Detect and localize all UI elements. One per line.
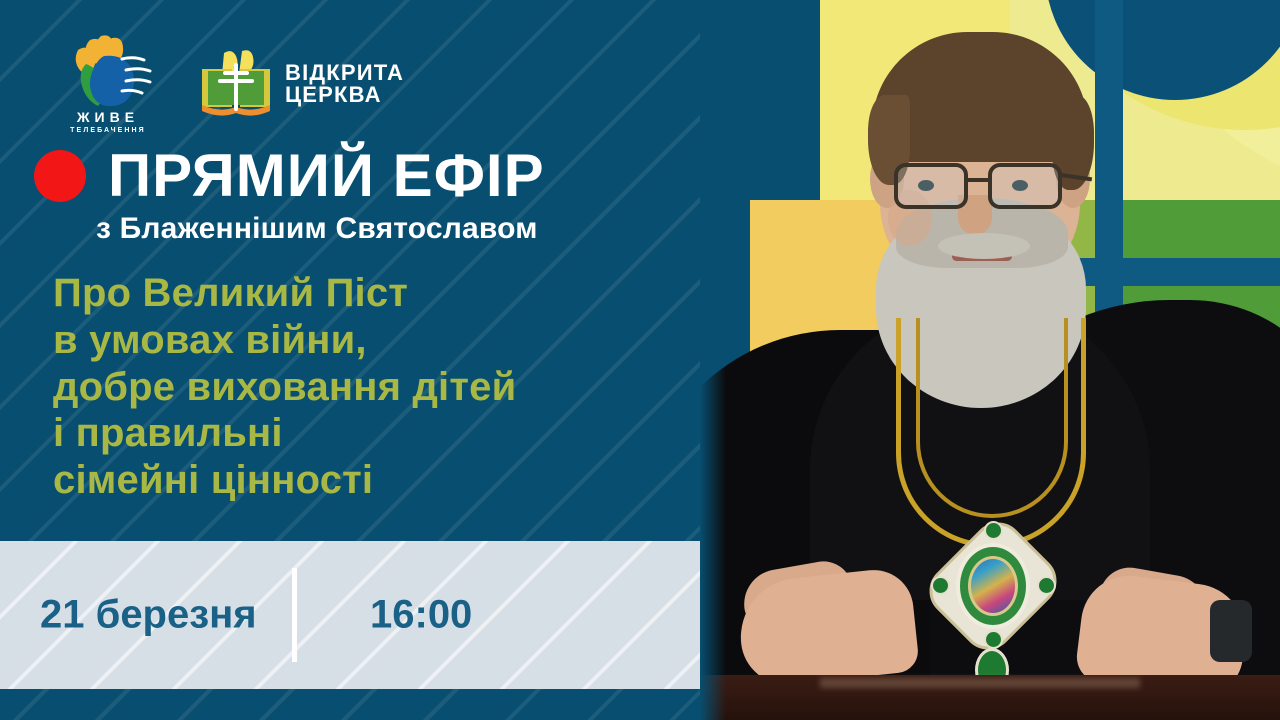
eyeglasses-bridge bbox=[968, 178, 990, 182]
schedule-bar-content: 21 березня 16:00 bbox=[0, 541, 700, 689]
eye-left bbox=[918, 180, 934, 191]
topic-line-4: і правильні bbox=[53, 410, 673, 457]
panagia-gem-top bbox=[984, 521, 1003, 540]
panagia-gem-bottom bbox=[984, 630, 1003, 649]
live-red-dot-icon bbox=[34, 150, 86, 202]
broadcast-time: 16:00 bbox=[370, 593, 472, 638]
panagia-icon-face bbox=[968, 556, 1018, 616]
livestream-announcement-poster: ЖИВЕ ТЕЛЕБАЧЕННЯ bbox=[0, 0, 1280, 720]
panagia-gem-right bbox=[1037, 576, 1056, 595]
topic-line-1: Про Великий Піст bbox=[53, 270, 673, 317]
logo-church-line1: ВІДКРИТА bbox=[285, 62, 404, 84]
artwork-panel bbox=[700, 0, 1280, 720]
eye-right bbox=[1012, 180, 1028, 191]
topic-line-3: добре виховання дітей bbox=[53, 364, 673, 411]
logo-church-line2: ЦЕРКВА bbox=[285, 84, 404, 106]
headline-subtitle: з Блаженнішим Святославом bbox=[96, 212, 538, 246]
moustache bbox=[938, 233, 1030, 259]
gold-chain-inner bbox=[916, 318, 1068, 518]
topic-line-2: в умовах війни, bbox=[53, 317, 673, 364]
hand-wheat-icon bbox=[60, 34, 156, 108]
logo-zhyve-telebachennya[interactable]: ЖИВЕ ТЕЛЕБАЧЕННЯ bbox=[54, 34, 162, 134]
logo-vidkryta-tserkva-text: ВІДКРИТА ЦЕРКВА bbox=[285, 62, 404, 107]
broadcast-date: 21 березня bbox=[40, 593, 257, 638]
panagia-gem-left bbox=[931, 576, 950, 595]
logo-vidkryta-tserkva[interactable]: ВІДКРИТА ЦЕРКВА bbox=[198, 49, 404, 119]
live-headline-row: ПРЯМИЙ ЕФІР bbox=[34, 146, 545, 206]
schedule-divider bbox=[292, 568, 297, 662]
desk-reflection bbox=[820, 678, 1140, 688]
logo-zhyve-name: ЖИВЕ bbox=[77, 110, 139, 124]
topic-line-5: сімейні цінності bbox=[53, 457, 673, 504]
bishop-portrait bbox=[700, 0, 1280, 720]
logo-row: ЖИВЕ ТЕЛЕБАЧЕННЯ bbox=[54, 28, 404, 140]
artwork-left-fade bbox=[700, 0, 726, 720]
page-title: ПРЯМИЙ ЕФІР bbox=[108, 146, 545, 206]
wristwatch bbox=[1210, 600, 1252, 662]
schedule-bar: 21 березня 16:00 bbox=[0, 541, 700, 689]
topic-text: Про Великий Піст в умовах війни, добре в… bbox=[53, 270, 673, 504]
open-book-cross-icon bbox=[198, 49, 274, 119]
logo-zhyve-subtitle: ТЕЛЕБАЧЕННЯ bbox=[70, 127, 146, 134]
